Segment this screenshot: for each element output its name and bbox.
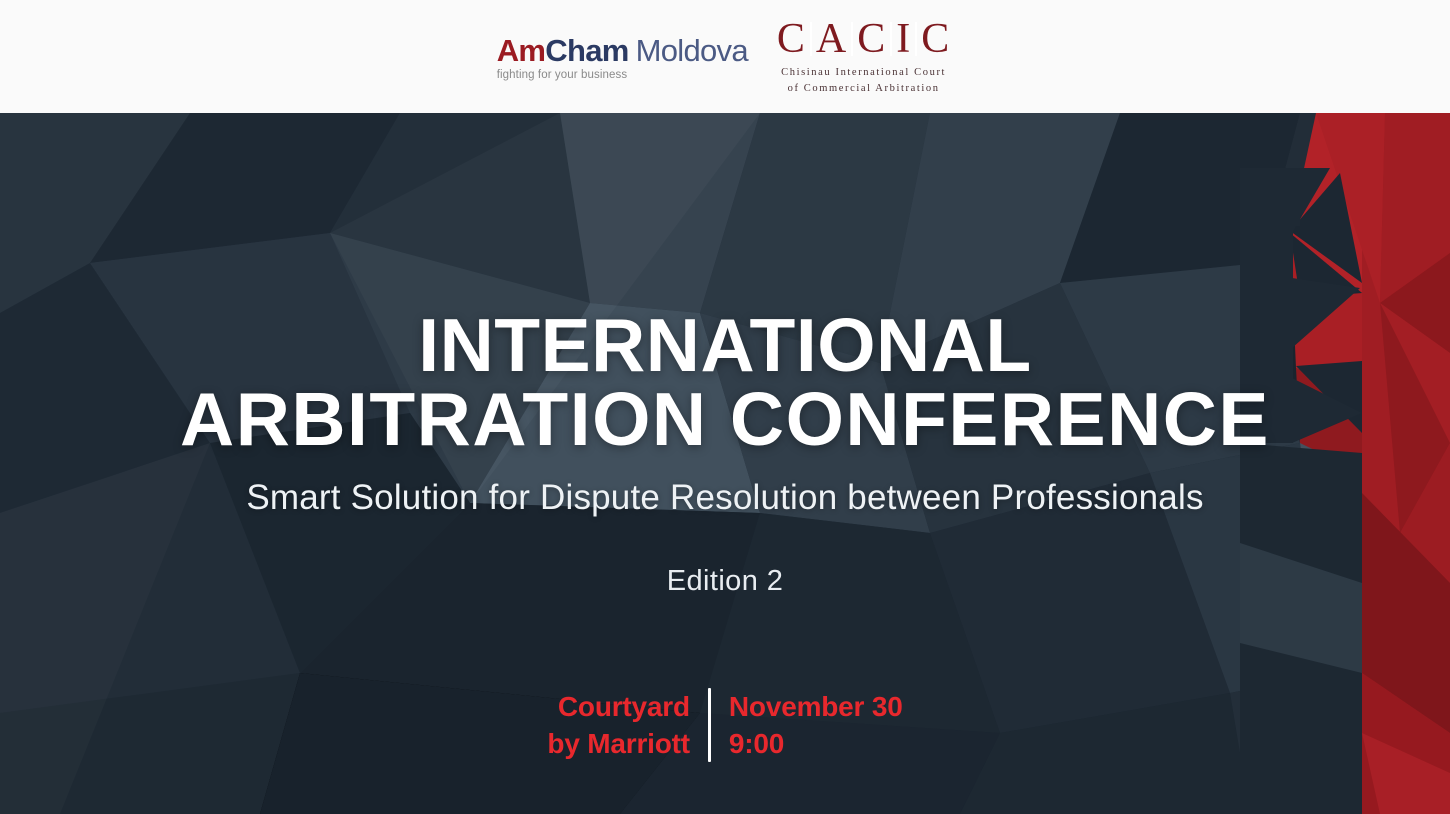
cacic-letter-divider-icon	[810, 22, 812, 56]
hero-banner: INTERNATIONAL ARBITRATION CONFERENCE Sma…	[0, 113, 1450, 814]
cacic-subtitle-line1: Chisinau International Court	[781, 65, 946, 80]
hero-content: INTERNATIONAL ARBITRATION CONFERENCE Sma…	[0, 113, 1450, 814]
amcham-wordmark: AmChamMoldova	[497, 35, 748, 66]
cacic-letter-1: C	[774, 18, 809, 60]
amcham-am-text: Am	[497, 33, 546, 68]
venue-date-block: Courtyard by Marriott November 30 9:00	[0, 688, 1450, 762]
venue-name: Courtyard by Marriott	[547, 688, 707, 762]
cacic-letter-divider-icon	[851, 22, 853, 56]
cacic-subtitle-line2: of Commercial Arbitration	[781, 81, 946, 96]
poster-page: AmChamMoldova fighting for your business…	[0, 0, 1450, 814]
cacic-letter-divider-icon	[890, 22, 892, 56]
cacic-letter-divider-icon	[915, 22, 917, 56]
page-title: INTERNATIONAL ARBITRATION CONFERENCE	[0, 308, 1450, 457]
cacic-logo: C A C I C Chisinau International Court o…	[774, 17, 953, 95]
cacic-letter-4: I	[893, 18, 914, 60]
amcham-cham-text: Cham	[545, 33, 628, 68]
venue-line-1: Courtyard	[547, 688, 689, 725]
date-line: November 30	[729, 688, 903, 725]
title-line-1: INTERNATIONAL	[0, 308, 1450, 382]
cacic-letter-5: C	[918, 18, 953, 60]
event-datetime: November 30 9:00	[711, 688, 903, 762]
page-subtitle: Smart Solution for Dispute Resolution be…	[0, 478, 1450, 518]
cacic-letter-3: C	[854, 18, 889, 60]
time-line: 9:00	[729, 725, 903, 762]
logo-bar: AmChamMoldova fighting for your business…	[0, 0, 1450, 113]
amcham-moldova-text: Moldova	[636, 33, 748, 68]
title-line-2: ARBITRATION CONFERENCE	[0, 382, 1450, 456]
venue-line-2: by Marriott	[547, 725, 689, 762]
cacic-wordmark: C A C I C	[774, 18, 953, 60]
cacic-subtitle: Chisinau International Court of Commerci…	[781, 65, 946, 95]
cacic-letter-2: A	[813, 18, 850, 60]
amcham-tagline: fighting for your business	[497, 69, 627, 81]
amcham-moldova-logo: AmChamMoldova fighting for your business	[497, 33, 748, 81]
edition-label: Edition 2	[0, 565, 1450, 598]
